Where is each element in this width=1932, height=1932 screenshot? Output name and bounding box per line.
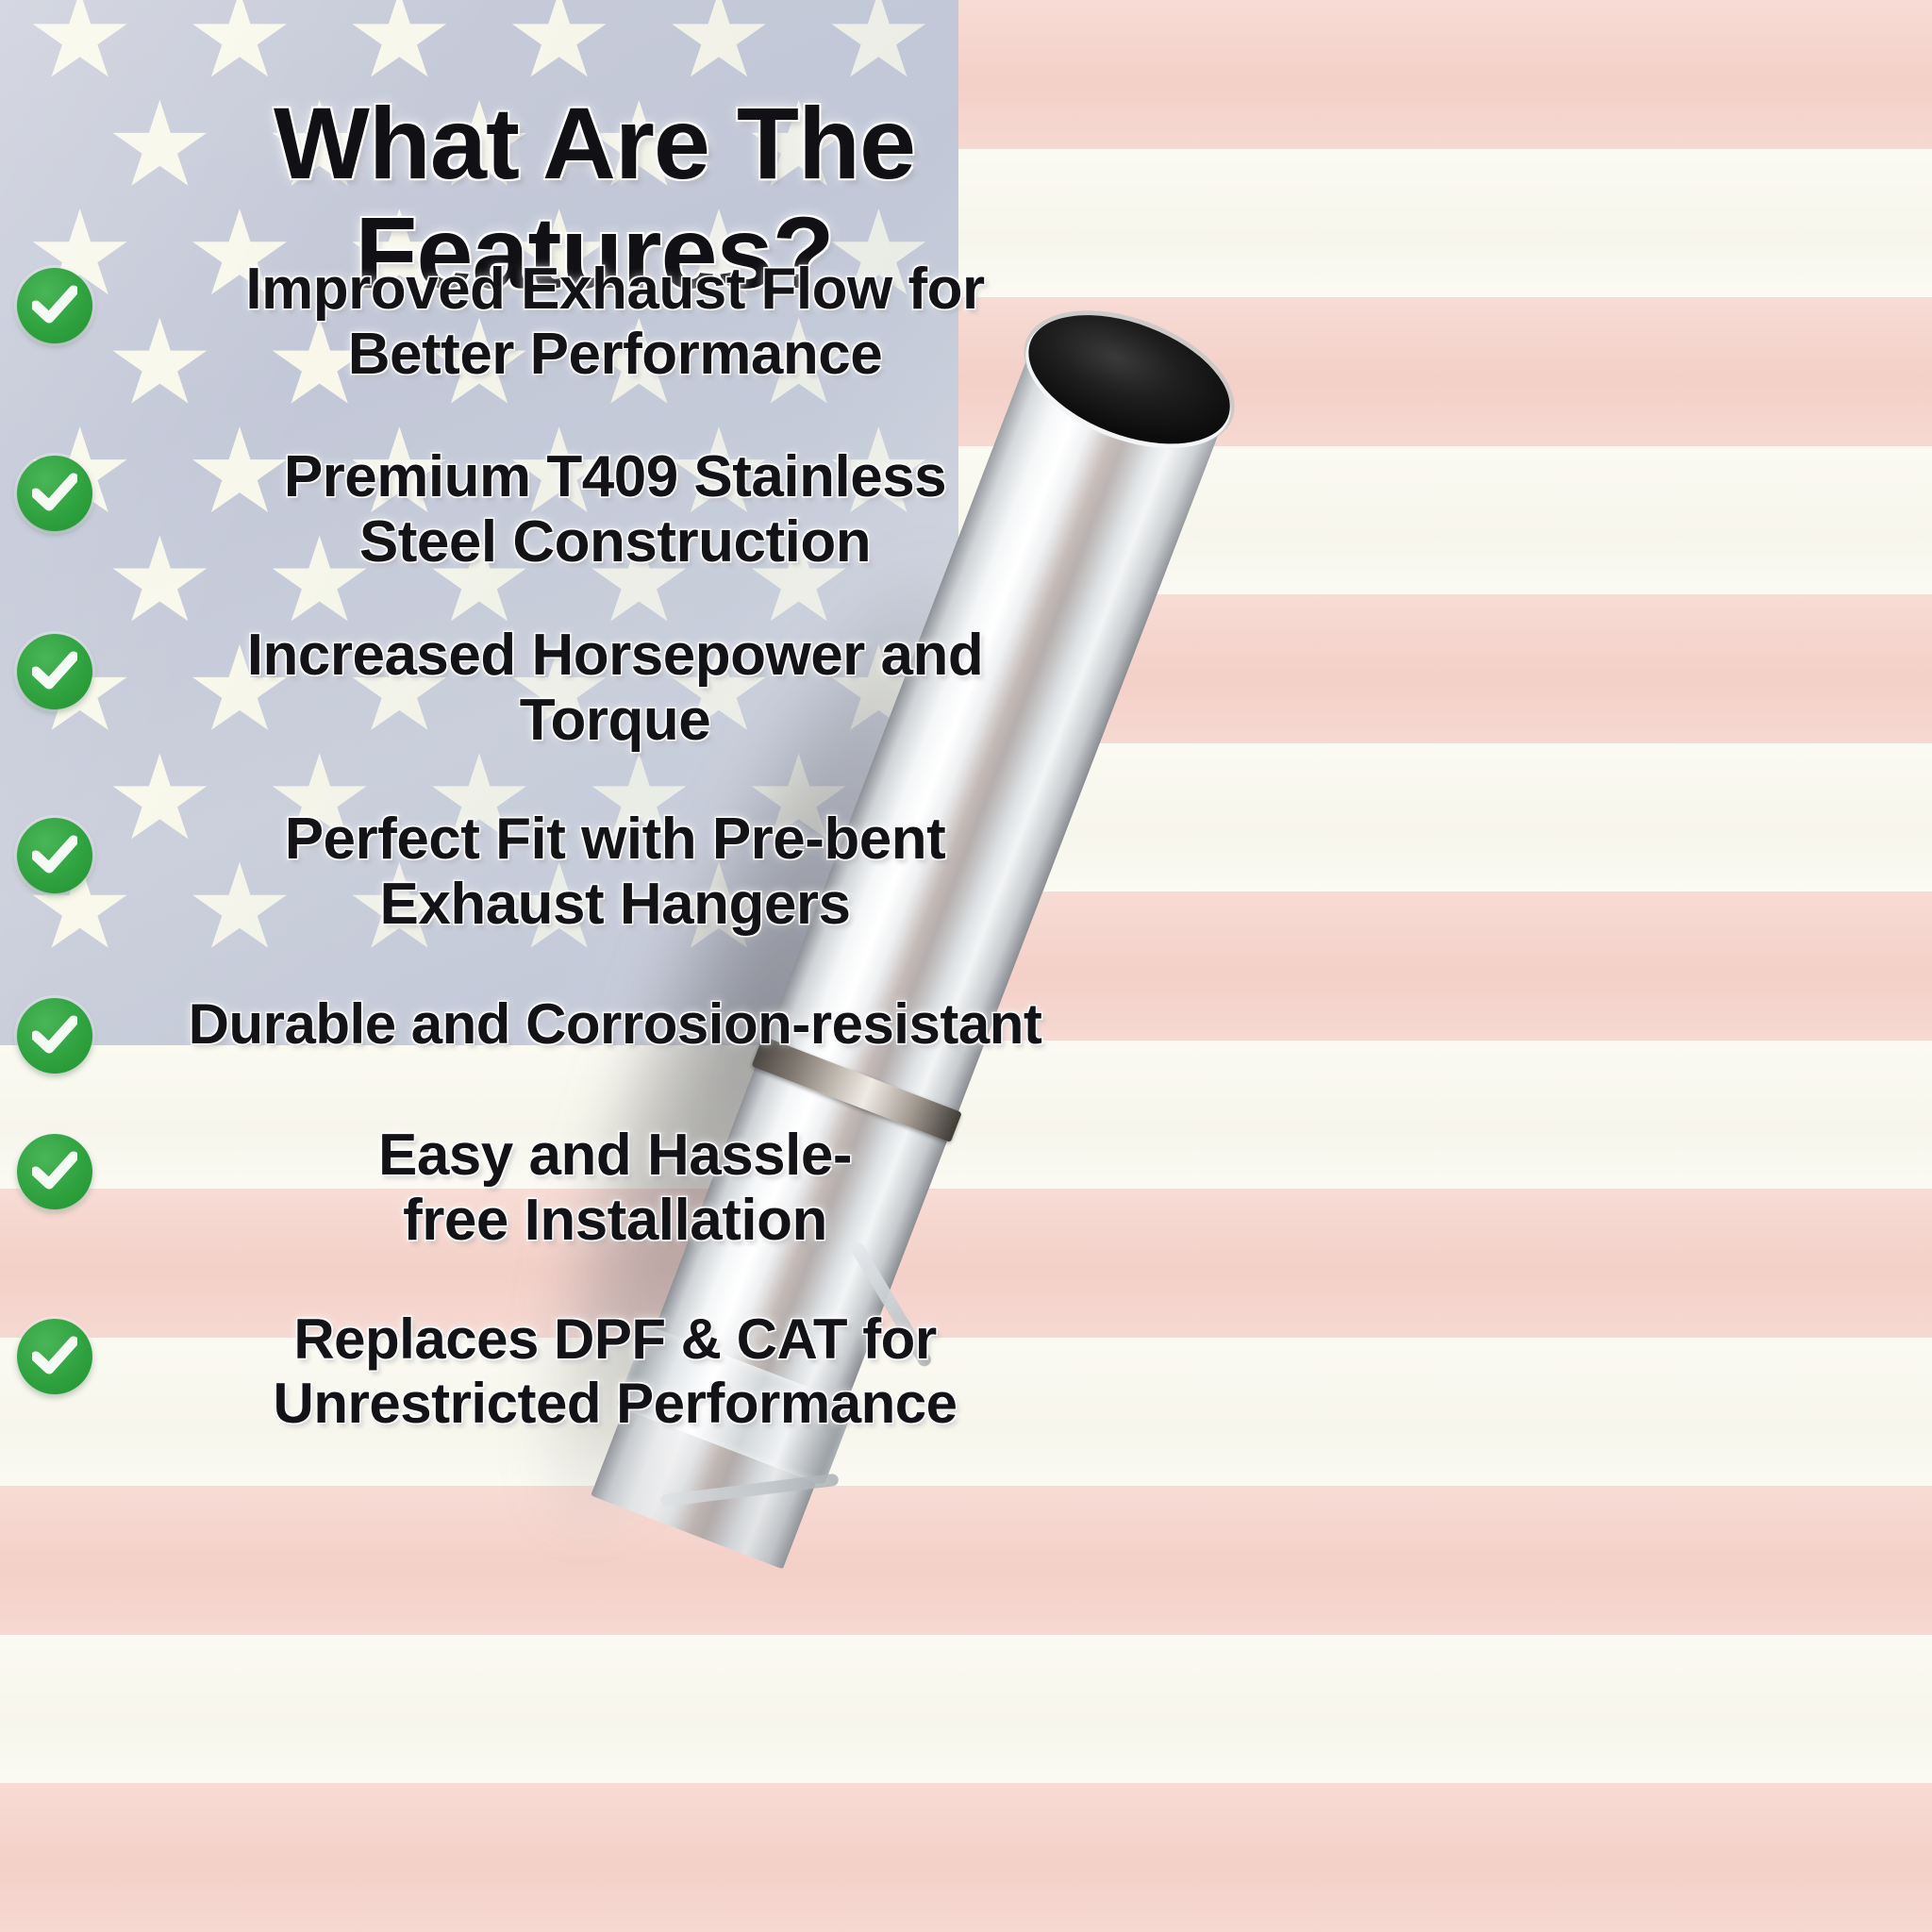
feature-line-1: Perfect Fit with Pre-bent <box>285 807 946 872</box>
feature-line-2: Torque <box>117 688 1113 753</box>
feature-list-item-text: Durable and Corrosion-resistant <box>92 992 1113 1056</box>
content-layer: What Are The Features? Improved Exhaust … <box>0 0 1932 1932</box>
check-circle-icon <box>17 1319 92 1394</box>
feature-list-item-text: Premium T409 StainlessSteel Construction <box>92 444 1113 575</box>
feature-line-1: Increased Horsepower and <box>247 623 984 688</box>
check-circle-icon <box>17 456 92 531</box>
feature-list-item-text: Increased Horsepower andTorque <box>92 623 1113 754</box>
feature-list-item: Durable and Corrosion-resistant <box>0 992 1113 1074</box>
feature-list-item: Increased Horsepower andTorque <box>0 623 1113 754</box>
feature-line-2: Unrestricted Performance <box>117 1372 1113 1435</box>
check-circle-icon <box>17 268 92 343</box>
feature-list-item: Premium T409 StainlessSteel Construction <box>0 444 1113 575</box>
feature-list-item-text: Replaces DPF & CAT forUnrestricted Perfo… <box>92 1307 1113 1434</box>
feature-list-item: Improved Exhaust Flow forBetter Performa… <box>0 257 1113 388</box>
feature-line-1: Durable and Corrosion-resistant <box>189 992 1042 1056</box>
feature-line-2: Steel Construction <box>117 509 1113 575</box>
feature-list-item-text: Improved Exhaust Flow forBetter Performa… <box>92 257 1113 388</box>
feature-line-2: Better Performance <box>117 322 1113 387</box>
feature-graphic: What Are The Features? Improved Exhaust … <box>0 0 1932 1932</box>
feature-line-1: Easy and Hassle- <box>378 1123 852 1188</box>
check-circle-icon <box>17 634 92 709</box>
feature-list-item: Easy and Hassle-free Installation <box>0 1123 1113 1254</box>
check-circle-icon <box>17 818 92 893</box>
feature-list-item-text: Easy and Hassle-free Installation <box>92 1123 1113 1254</box>
feature-line-2: free Installation <box>117 1188 1113 1253</box>
feature-line-2: Exhaust Hangers <box>117 872 1113 937</box>
feature-list-item: Perfect Fit with Pre-bentExhaust Hangers <box>0 807 1113 938</box>
feature-list-item: Replaces DPF & CAT forUnrestricted Perfo… <box>0 1307 1113 1434</box>
feature-line-1: Improved Exhaust Flow for <box>245 257 984 322</box>
feature-line-1: Premium T409 Stainless <box>284 444 946 509</box>
check-circle-icon <box>17 1134 92 1209</box>
feature-list-item-text: Perfect Fit with Pre-bentExhaust Hangers <box>92 807 1113 938</box>
check-circle-icon <box>17 998 92 1074</box>
feature-list: Improved Exhaust Flow forBetter Performa… <box>0 253 1113 1461</box>
feature-line-1: Replaces DPF & CAT for <box>293 1307 936 1371</box>
page-title-line-1: What Are The <box>274 86 915 200</box>
